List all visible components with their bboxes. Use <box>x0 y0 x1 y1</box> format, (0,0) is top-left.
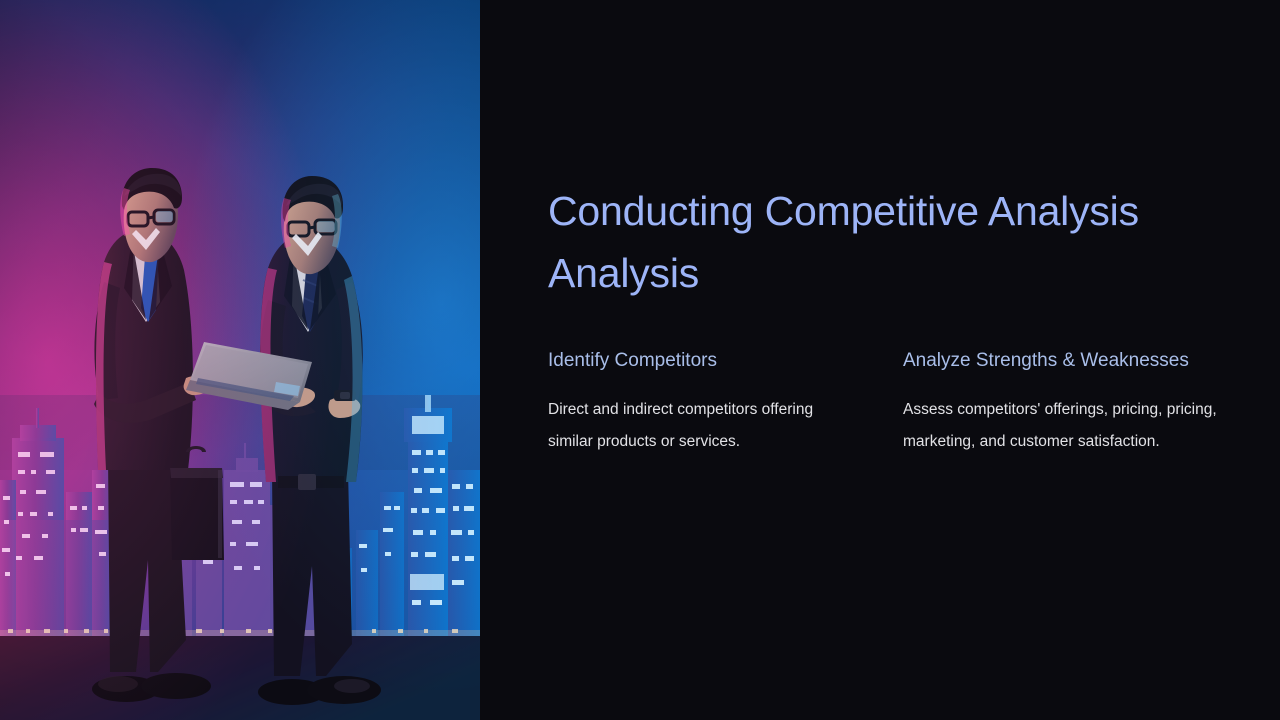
slide-title: Conducting Competitive Analysis Analysis <box>548 180 1220 304</box>
columns-container: Identify Competitors Direct and indirect… <box>548 345 1238 458</box>
slide: Conducting Competitive Analysis Analysis… <box>0 0 1280 720</box>
hero-image <box>0 0 480 720</box>
column-heading: Identify Competitors <box>548 345 858 376</box>
column-identify-competitors: Identify Competitors Direct and indirect… <box>548 345 903 458</box>
column-body: Assess competitors' offerings, pricing, … <box>903 394 1218 458</box>
column-heading: Analyze Strengths & Weaknesses <box>903 345 1218 376</box>
content-panel: Conducting Competitive Analysis Analysis… <box>480 0 1280 720</box>
column-body: Direct and indirect competitors offering… <box>548 394 858 458</box>
businessmen-photo-illustration <box>0 0 480 720</box>
column-analyze-strengths-weaknesses: Analyze Strengths & Weaknesses Assess co… <box>903 345 1238 458</box>
